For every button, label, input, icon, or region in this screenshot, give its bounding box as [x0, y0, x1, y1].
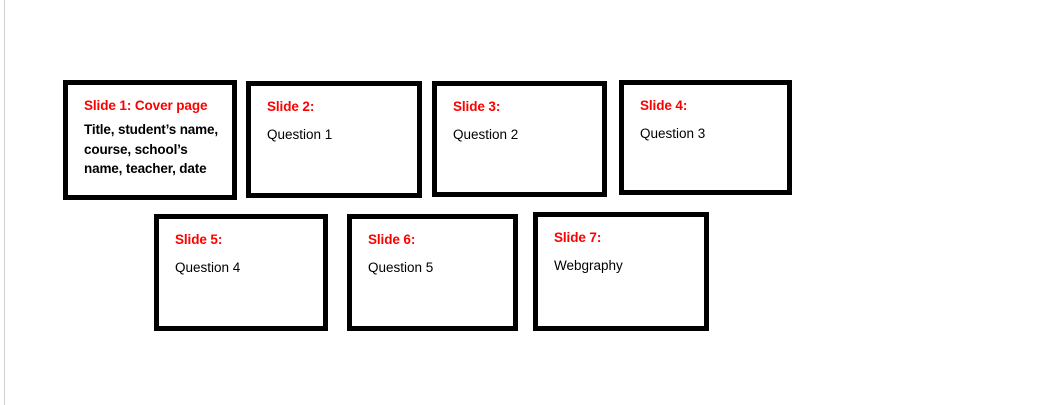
- slide-2-body: Question 1: [267, 125, 403, 144]
- slide-7-body: Webgraphy: [554, 256, 690, 275]
- slide-box-3[interactable]: Slide 3: Question 2: [432, 81, 607, 197]
- slide-box-6[interactable]: Slide 6: Question 5: [347, 214, 518, 331]
- slide-5-body: Question 4: [175, 258, 309, 277]
- slide-4-title: Slide 4:: [640, 97, 773, 114]
- slide-plan-canvas: Slide 1: Cover page Title, student’s nam…: [0, 0, 1055, 405]
- slide-1-body: Title, student’s name, course, school’s …: [84, 120, 218, 179]
- slide-box-1[interactable]: Slide 1: Cover page Title, student’s nam…: [63, 80, 237, 200]
- slide-4-body: Question 3: [640, 124, 773, 143]
- slide-box-4[interactable]: Slide 4: Question 3: [619, 80, 792, 195]
- slide-2-title: Slide 2:: [267, 98, 403, 115]
- slide-3-body: Question 2: [453, 125, 588, 144]
- slide-box-2[interactable]: Slide 2: Question 1: [246, 81, 422, 198]
- slide-3-title: Slide 3:: [453, 98, 588, 115]
- slide-6-body: Question 5: [368, 258, 499, 277]
- slide-1-title: Slide 1: Cover page: [84, 97, 218, 114]
- slide-box-7[interactable]: Slide 7: Webgraphy: [533, 212, 709, 331]
- slide-7-title: Slide 7:: [554, 229, 690, 246]
- slide-5-title: Slide 5:: [175, 231, 309, 248]
- page-margin-rule: [4, 0, 5, 405]
- slide-box-5[interactable]: Slide 5: Question 4: [154, 214, 328, 331]
- slide-6-title: Slide 6:: [368, 231, 499, 248]
